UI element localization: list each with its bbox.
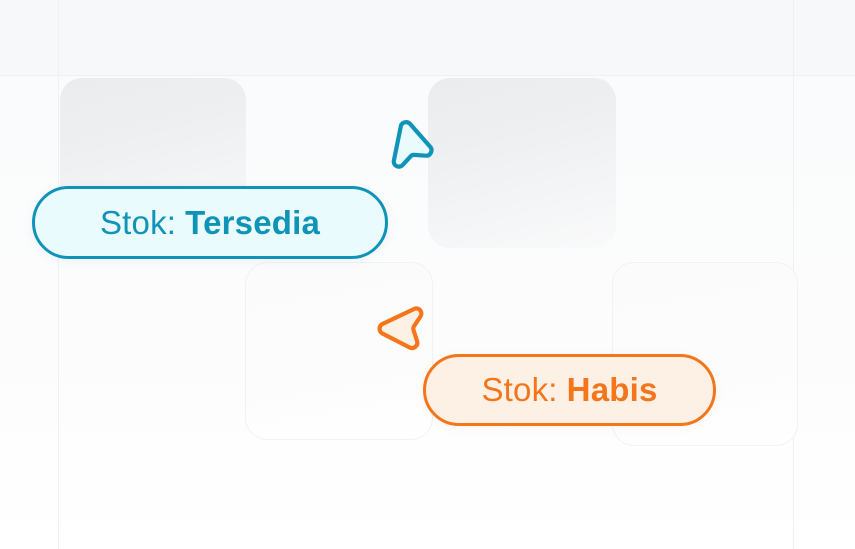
status-badge-stock-out[interactable]: Stok: Habis [423,354,716,426]
grid-line-vertical-left [58,0,59,549]
orange-cursor-icon [377,296,439,358]
status-badge-prefix: Stok: [100,204,176,242]
illustration-canvas: Stok: Tersedia Stok: Habis [0,0,855,549]
status-badge-value: Habis [567,371,658,409]
grid-line-horizontal [0,75,855,76]
top-panel-inner [58,0,793,76]
status-badge-stock-available[interactable]: Stok: Tersedia [32,186,388,259]
status-badge-prefix: Stok: [481,371,557,409]
teal-cursor-icon [376,123,438,185]
product-card-2[interactable] [428,78,616,248]
status-badge-value: Tersedia [185,204,320,242]
